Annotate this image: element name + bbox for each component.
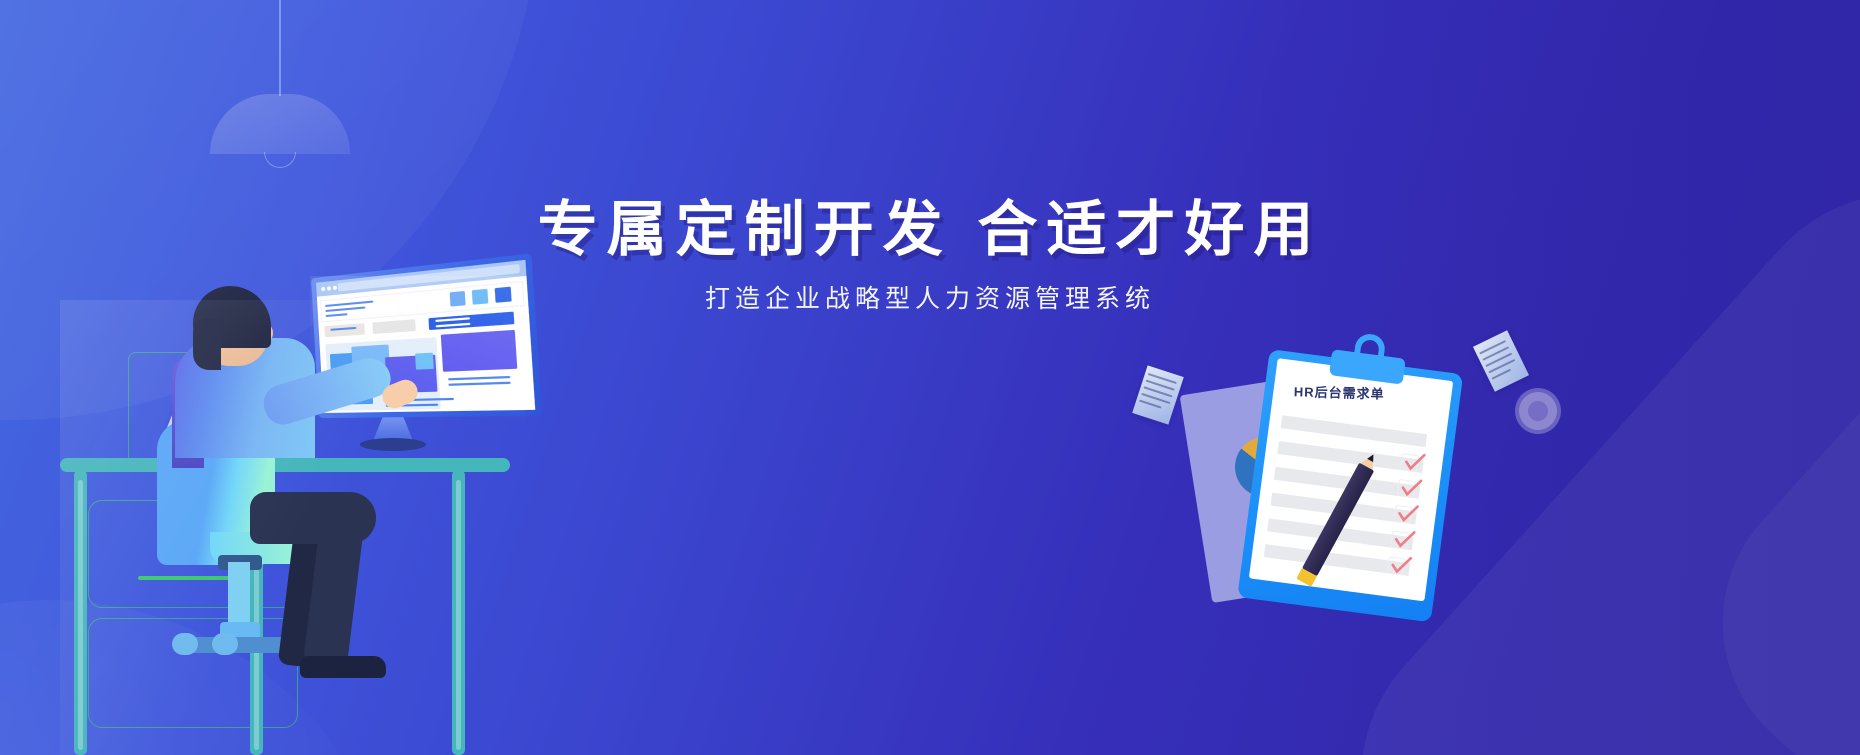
- check-icon[interactable]: [1390, 531, 1409, 550]
- clipboard: HR后台需求单: [1236, 331, 1501, 639]
- desk-surface: [60, 458, 510, 472]
- office-chair-caster-left: [172, 633, 198, 655]
- check-icon[interactable]: [1387, 556, 1406, 575]
- checklist-row: [1281, 415, 1427, 447]
- office-chair-stem: [228, 562, 250, 628]
- hero-banner: 专属定制开发 合适才好用 打造企业战略型人力资源管理系统: [0, 0, 1860, 755]
- lamp-bulb: [264, 152, 296, 168]
- content-block-5: [441, 330, 518, 372]
- content-tile-2: [472, 289, 488, 305]
- pendant-lamp-icon: [210, 0, 350, 175]
- lamp-shade: [210, 94, 350, 154]
- person-thigh: [250, 492, 376, 544]
- content-chip-2: [372, 319, 415, 334]
- monitor-stand-base: [360, 438, 426, 451]
- illustration-hr-requirement-clipboard: HR后台需求单: [1195, 345, 1525, 625]
- content-tile-1: [450, 291, 466, 307]
- check-icon[interactable]: [1400, 453, 1419, 472]
- content-block-4: [415, 353, 434, 370]
- office-chair-caster-mid: [212, 633, 238, 655]
- desk-leg-far-highlight: [456, 480, 461, 750]
- person-hair-side: [193, 318, 221, 370]
- hero-copy: 专属定制开发 合适才好用 打造企业战略型人力资源管理系统: [0, 196, 1860, 315]
- check-icon[interactable]: [1397, 479, 1416, 498]
- person-shoe: [300, 656, 386, 678]
- content-tile-3: [495, 287, 512, 303]
- check-icon[interactable]: [1393, 505, 1412, 524]
- page-title: 专属定制开发 合适才好用: [0, 196, 1860, 263]
- desk-leg-left-highlight: [78, 480, 83, 750]
- clipboard-paper: HR后台需求单: [1249, 358, 1453, 601]
- clipboard-title: HR后台需求单: [1294, 381, 1385, 402]
- illustration-person-at-desk: [60, 300, 580, 755]
- lamp-cord: [279, 0, 281, 96]
